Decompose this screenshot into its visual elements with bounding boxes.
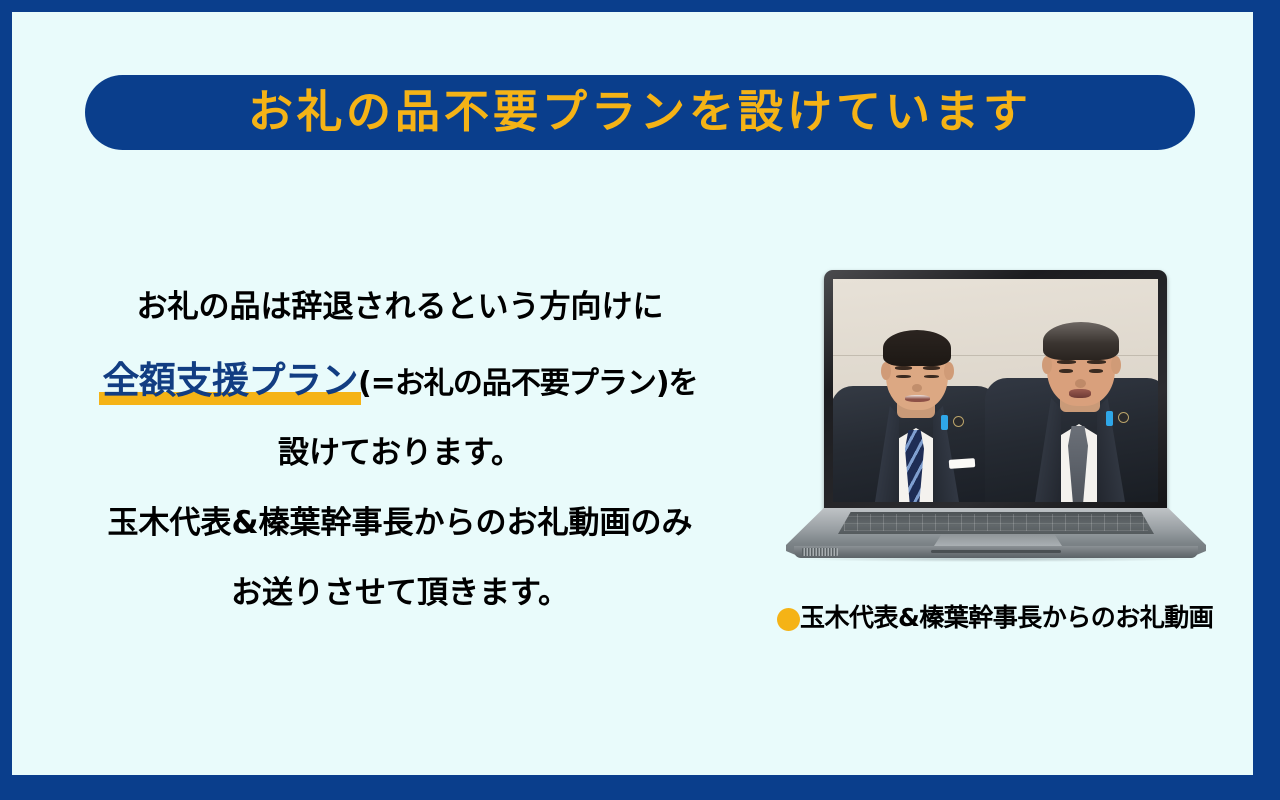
person-right-ear-right — [1111, 356, 1121, 374]
person-left-badge-pin — [953, 416, 964, 427]
person-left-eye-right — [924, 375, 939, 378]
person-right — [983, 342, 1158, 502]
person-left-eye-left — [896, 375, 911, 378]
person-right-nose — [1075, 379, 1086, 388]
person-left-ear-right — [944, 362, 954, 380]
slide-canvas: お礼の品不要プランを設けています お礼の品は辞退されるという方向けに 全額支援プ… — [12, 12, 1253, 775]
laptop-trackpad — [934, 534, 1062, 546]
plan-name-suffix: (=お礼の品不要プラン)を — [358, 366, 698, 401]
person-right-ribbon-pin — [1106, 411, 1113, 426]
person-right-brow-right — [1087, 360, 1106, 364]
person-right-hair — [1043, 322, 1119, 360]
person-right-eye-right — [1089, 369, 1103, 373]
laptop-keys — [844, 514, 1148, 531]
laptop-lid — [824, 270, 1167, 512]
body-line-5: お送りさせて頂きます。 — [40, 578, 760, 609]
person-left-brow-right — [923, 366, 940, 370]
laptop-front-slot — [931, 550, 1061, 553]
laptop-illustration — [786, 270, 1206, 580]
laptop-caption: 玉木代表&榛葉幹事長からのお礼動画 — [777, 602, 1227, 634]
person-right-brow-left — [1057, 360, 1076, 364]
video-still-photo — [833, 279, 1158, 502]
caption-text: 玉木代表&榛葉幹事長からのお礼動画 — [800, 602, 1213, 634]
person-left-pocket-square — [949, 458, 976, 469]
person-left-ear-left — [881, 362, 891, 380]
body-line-2: 全額支援プラン(=お礼の品不要プラン)を — [40, 362, 760, 399]
laptop-drop-shadow — [796, 556, 1196, 562]
person-left-ribbon-pin — [941, 415, 948, 430]
person-right-eye-left — [1059, 369, 1073, 373]
person-left-hair — [883, 330, 951, 366]
banner-title-text: お礼の品不要プランを設けています — [248, 89, 1032, 134]
body-line-1: お礼の品は辞退されるという方向けに — [40, 292, 760, 323]
body-line-4: 玉木代表&榛葉幹事長からのお礼動画のみ — [40, 508, 760, 539]
person-right-badge-pin — [1118, 412, 1129, 423]
person-left-nose — [912, 384, 922, 392]
laptop-vent-grille — [802, 548, 838, 556]
laptop-keyboard — [838, 512, 1154, 534]
body-text-column: お礼の品は辞退されるという方向けに 全額支援プラン(=お礼の品不要プラン)を 設… — [40, 292, 760, 609]
person-left — [833, 352, 1003, 502]
person-left-mouth — [905, 395, 930, 402]
bullet-dot-icon — [777, 608, 800, 631]
laptop-screen — [833, 279, 1158, 502]
body-line-3: 設けております。 — [40, 438, 760, 469]
slide-root: お礼の品不要プランを設けています お礼の品は辞退されるという方向けに 全額支援プ… — [0, 0, 1280, 800]
person-right-ear-left — [1042, 356, 1052, 374]
plan-name-highlight: 全額支援プラン — [102, 362, 358, 399]
title-banner: お礼の品不要プランを設けています — [85, 75, 1195, 150]
person-left-brow-left — [895, 366, 912, 370]
person-right-mouth — [1069, 389, 1091, 398]
